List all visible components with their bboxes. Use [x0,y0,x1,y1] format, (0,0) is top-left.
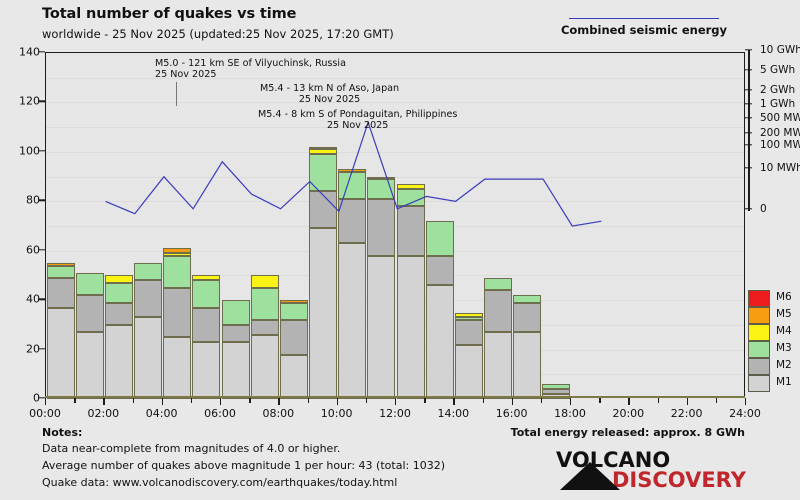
bar-segment-m5 [47,263,75,265]
anno-pondaguitan-line2: 25 Nov 2025 [258,120,457,131]
anno-vilyuchinsk-line2: 25 Nov 2025 [155,69,346,80]
x-tick-label: 18:00 [554,407,586,420]
y-tick-mark-right [745,132,752,133]
y-tick-label-right: 5 GWh [760,64,795,76]
legend-swatch-m3 [748,341,770,358]
notes-line-3[interactable]: Quake data: www.volcanodiscovery.com/ear… [42,476,397,489]
x-tick-mark-minor [133,398,134,403]
y-tick-label-right: 500 MWh [760,112,800,124]
legend-label-m5: M5 [776,308,792,320]
y-tick-label-left: 80 [0,194,40,207]
x-tick-mark [395,398,396,405]
x-tick-mark-minor [599,398,600,403]
legend-label-m2: M2 [776,359,792,371]
x-tick-mark-minor [658,398,659,403]
y-tick-mark-right [745,167,752,168]
y-tick-label-right: 10 MWh [760,162,800,174]
legend-swatch-m4 [748,324,770,341]
y-tick-label-left: 0 [0,392,40,405]
y-tick-label-right: 100 MWh [760,139,800,151]
x-tick-mark [220,398,221,405]
legend-swatch-m1 [748,375,770,392]
energy-polyline [106,122,602,226]
x-tick-mark [337,398,338,405]
y-tick-mark-left [38,150,45,151]
page-subtitle: worldwide - 25 Nov 2025 (updated:25 Nov … [42,27,394,41]
y-tick-mark-right [745,69,752,70]
total-energy-released: Total energy released: approx. 8 GWh [511,426,745,439]
y-tick-mark-left [38,249,45,250]
energy-line-swatch [569,18,719,19]
x-tick-label: 00:00 [29,407,61,420]
legend-label-m3: M3 [776,342,792,354]
x-tick-label: 02:00 [87,407,119,420]
y-tick-mark-right [745,103,752,104]
anno-vilyuchinsk-line1: M5.0 - 121 km SE of Vilyuchinsk, Russia [155,58,346,69]
page-title: Total number of quakes vs time [42,6,296,22]
x-tick-mark-minor [191,398,192,403]
anno-vilyuchinsk-leader [176,82,177,106]
x-tick-label: 10:00 [321,407,353,420]
energy-line-legend: Combined seismic energy [544,18,744,37]
y-tick-mark-left [38,200,45,201]
anno-aso: M5.4 - 13 km N of Aso, Japan25 Nov 2025 [260,83,399,105]
x-tick-label: 04:00 [146,407,178,420]
y-tick-mark-right [745,49,752,50]
x-tick-mark-minor [541,398,542,403]
x-tick-label: 16:00 [496,407,528,420]
y-tick-label-right: 2 GWh [760,84,795,96]
x-tick-mark-minor [366,398,367,403]
bar-segment-m1 [47,308,75,399]
anno-pondaguitan-line1: M5.4 - 8 km S of Pondaguitan, Philippine… [258,109,457,120]
y-tick-mark-left [38,51,45,52]
x-tick-mark [103,398,104,405]
x-tick-mark [687,398,688,405]
x-tick-label: 20:00 [612,407,644,420]
notes-line-1: Data near-complete from magnitudes of 4.… [42,442,340,455]
x-tick-mark-minor [483,398,484,403]
x-tick-mark [45,398,46,405]
x-tick-mark [162,398,163,405]
logo-word-discovery: DISCOVERY [612,468,747,492]
energy-line-label: Combined seismic energy [544,23,744,37]
legend-label-m4: M4 [776,325,792,337]
legend-swatch-m6 [748,290,770,307]
notes-heading: Notes: [42,426,82,439]
x-tick-label: 22:00 [671,407,703,420]
legend-swatch-m5 [748,307,770,324]
x-tick-mark [570,398,571,405]
x-tick-mark [512,398,513,405]
legend-label-m6: M6 [776,291,792,303]
x-tick-label: 24:00 [729,407,761,420]
anno-aso-line1: M5.4 - 13 km N of Aso, Japan [260,83,399,94]
y-tick-mark-left [38,348,45,349]
x-tick-label: 06:00 [204,407,236,420]
x-tick-label: 08:00 [262,407,294,420]
y-tick-label-right: 0 [760,203,767,215]
x-tick-label: 14:00 [437,407,469,420]
anno-pondaguitan: M5.4 - 8 km S of Pondaguitan, Philippine… [258,109,457,131]
y-tick-label-left: 140 [0,46,40,59]
x-tick-mark-minor [424,398,425,403]
bar-segment-m2 [47,278,75,308]
gridline [46,78,744,79]
x-tick-mark [453,398,454,405]
chart-page: Total number of quakes vs time worldwide… [0,0,800,500]
x-tick-mark-minor [249,398,250,403]
bar-segment-m3 [47,266,75,278]
x-tick-mark [745,398,746,405]
y-tick-mark-left [38,101,45,102]
y-tick-label-left: 120 [0,95,40,108]
y-tick-mark-right [745,144,752,145]
y-tick-label-left: 40 [0,293,40,306]
legend-label-m1: M1 [776,376,792,388]
y-tick-label-right: 10 GWh [760,44,800,56]
y-tick-mark-left [38,397,45,398]
x-tick-mark-minor [716,398,717,403]
right-axis-line [748,50,750,211]
y-tick-label-right: 1 GWh [760,98,795,110]
volcanodiscovery-logo: VOLCANO DISCOVERY [550,446,750,492]
y-tick-mark-right [745,208,752,209]
y-tick-label-left: 20 [0,342,40,355]
y-tick-label-left: 60 [0,243,40,256]
anno-vilyuchinsk: M5.0 - 121 km SE of Vilyuchinsk, Russia2… [155,58,346,80]
x-tick-mark [628,398,629,405]
notes-line-2: Average number of quakes above magnitude… [42,459,445,472]
anno-aso-line2: 25 Nov 2025 [260,94,399,105]
x-tick-label: 12:00 [379,407,411,420]
legend-swatch-m2 [748,358,770,375]
x-tick-mark-minor [74,398,75,403]
y-tick-label-left: 100 [0,144,40,157]
y-tick-label-right: 200 MWh [760,127,800,139]
x-tick-mark [278,398,279,405]
y-tick-mark-right [745,89,752,90]
y-tick-mark-right [745,117,752,118]
x-tick-mark-minor [308,398,309,403]
y-tick-mark-left [38,298,45,299]
